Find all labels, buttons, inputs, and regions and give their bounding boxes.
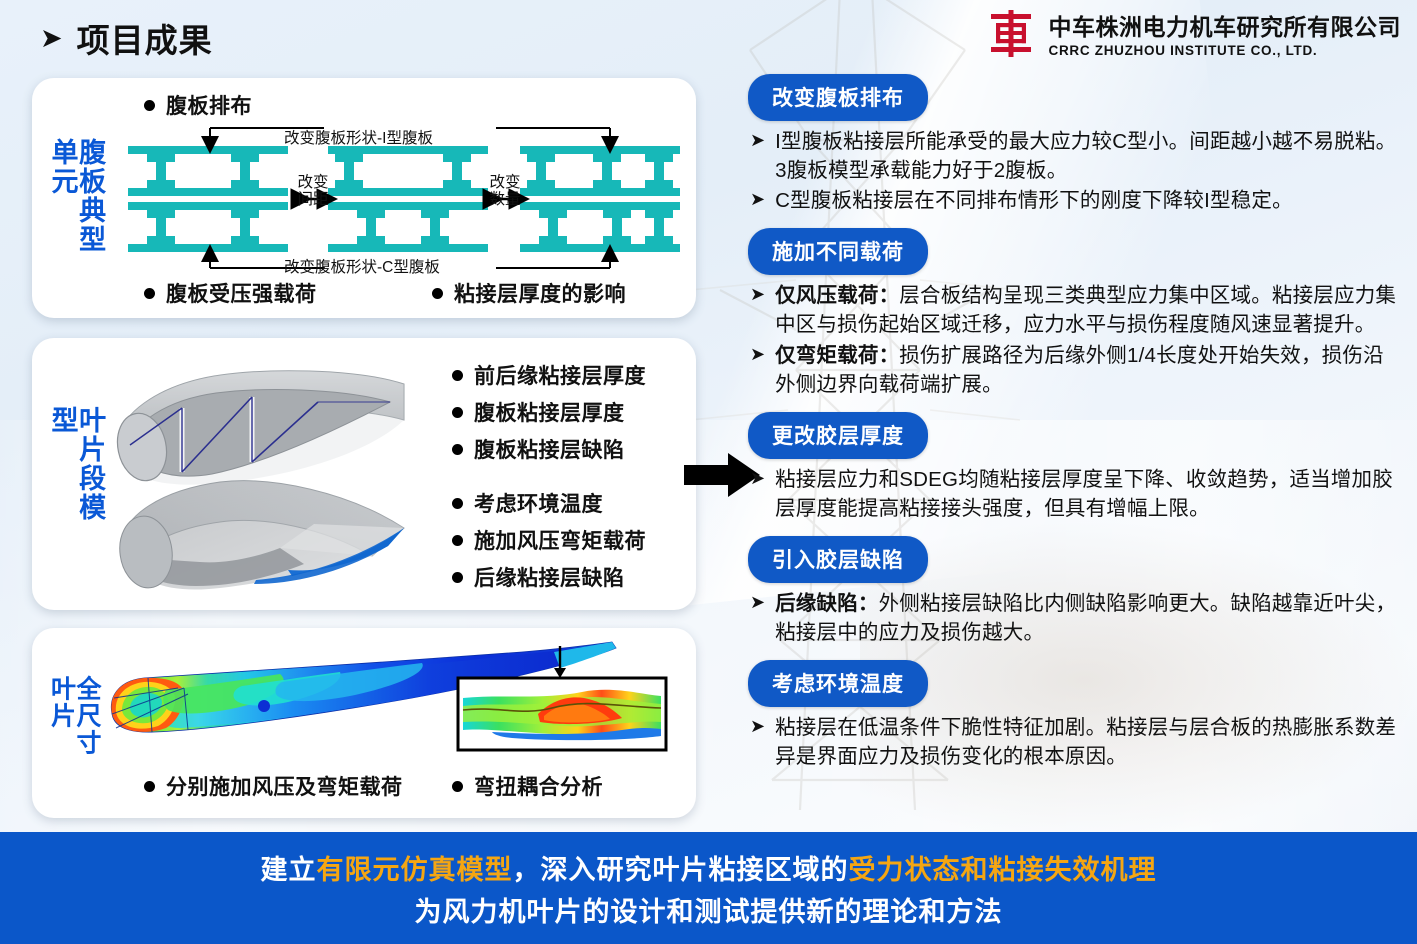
list-item: 施加风压弯矩载荷 [452,525,646,555]
card-blade-foot-text-1: 分别施加风压及弯矩载荷 [166,771,403,801]
brand-names: 中车株洲电力机车研究所有限公司 CRRC ZHUZHOU INSTITUTE C… [1049,8,1402,58]
card-blade-foot-bullet-1: 分别施加风压及弯矩载荷 [144,771,403,801]
webs-top-arrow-label: 改变腹板形状-I型腹板 [284,126,433,148]
section-body: ➤粘接层在低温条件下脆性特征加剧。粘接层与层合板的热膨胀系数差异是界面应力及损伤… [748,707,1398,779]
section-chip-3[interactable]: 引入胶层缺陷 [748,536,928,583]
webs-mid-label-spacing: 改变 间距 [284,174,342,209]
finding-body-text: 粘接层在低温条件下脆性特征加剧。粘接层与层合板的热膨胀系数差异是界面应力及损伤变… [775,716,1396,768]
section-chip-0[interactable]: 改变腹板排布 [748,74,928,121]
list-item: 腹板粘接层厚度 [452,397,646,427]
bullet-dot-icon [452,781,463,792]
finding-section: 引入胶层缺陷➤后缘缺陷：外侧粘接层缺陷比内侧缺陷影响更大。缺陷越靠近叶尖，粘接层… [748,536,1398,655]
card-section-list1-text-1: 前后缘粘接层厚度 [474,360,646,390]
card-webs-foot-bullet-1: 腹板受压强载荷 [144,278,317,308]
arrow-bullet-icon: ➤ [750,589,765,616]
finding-section: 考虑环境温度➤粘接层在低温条件下脆性特征加剧。粘接层与层合板的热膨胀系数差异是界… [748,660,1398,779]
webs-bottom-arrow-label: 改变腹板形状-C型腹板 [284,255,440,277]
finding-item: ➤仅风压载荷：层合板结构呈现三类典型应力集中区域。粘接层应力集中区与损伤起始区域… [750,281,1398,339]
findings-column: 改变腹板排布➤I型腹板粘接层所能承受的最大应力较C型小。间距越小越不易脱粘。3腹… [748,74,1398,784]
webs-mid-label-count-l1: 改变 [476,174,534,191]
webs-mid-label-spacing-l1: 改变 [284,174,342,191]
list-item: 前后缘粘接层厚度 [452,360,646,390]
card-webs-foot-text-2: 粘接层厚度的影响 [454,278,626,308]
finding-text: I型腹板粘接层所能承受的最大应力较C型小。间距越小越不易脱粘。3腹板模型承载能力… [775,127,1398,185]
bullet-dot-icon [452,572,463,583]
card-section-side-label: 叶片段模型 [48,406,103,542]
card-section-list1-text-2: 腹板粘接层厚度 [474,397,625,427]
brand-name-en: CRRC ZHUZHOU INSTITUTE CO., LTD. [1049,43,1402,58]
arrow-bullet-icon: ➤ [750,127,765,154]
page-title: ➤ 项目成果 [40,14,213,62]
banner-segment: 为风力机叶片的设计和测试提供新的理论和方法 [415,897,1003,927]
bullet-dot-icon [432,288,443,299]
brand-logo: 中车株洲电力机车研究所有限公司 CRRC ZHUZHOU INSTITUTE C… [986,8,1402,58]
card-section-bullet-list-1: 前后缘粘接层厚度 腹板粘接层厚度 腹板粘接层缺陷 [452,360,646,464]
card-webs-side-label: 腹板典型单元 [48,138,103,258]
bullet-dot-icon [144,100,155,111]
section-body: ➤I型腹板粘接层所能承受的最大应力较C型小。间距越小越不易脱粘。3腹板模型承载能… [748,121,1398,223]
finding-item: ➤后缘缺陷：外侧粘接层缺陷比内侧缺陷影响更大。缺陷越靠近叶尖，粘接层中的应力及损… [750,589,1398,647]
section-chip-4[interactable]: 考虑环境温度 [748,660,928,707]
conclusion-banner: 建立有限元仿真模型，深入研究叶片粘接区域的受力状态和粘接失效机理 为风力机叶片的… [0,832,1417,944]
card-webs-head-bullet: 腹板排布 [144,90,252,120]
list-item: 后缘粘接层缺陷 [452,562,646,592]
bullet-dot-icon [452,535,463,546]
bullet-dot-icon [144,288,155,299]
section-body: ➤后缘缺陷：外侧粘接层缺陷比内侧缺陷影响更大。缺陷越靠近叶尖，粘接层中的应力及损… [748,583,1398,655]
card-section-list1-text-3: 腹板粘接层缺陷 [474,434,625,464]
page-title-text: 项目成果 [77,14,213,62]
card-blade-foot-text-2: 弯扭耦合分析 [474,771,603,801]
bullet-dot-icon [452,444,463,455]
banner-segment: 受力状态和粘接失效机理 [849,855,1157,885]
finding-lead: 仅弯矩载荷： [775,344,899,367]
banner-segment: 有限元仿真模型 [317,855,513,885]
arrow-bullet-icon: ➤ [750,281,765,308]
finding-lead: 后缘缺陷： [775,592,879,615]
card-section-list2-text-3: 后缘粘接层缺陷 [474,562,625,592]
finding-section: 施加不同载荷➤仅风压载荷：层合板结构呈现三类典型应力集中区域。粘接层应力集中区与… [748,228,1398,406]
card-section-list2-text-1: 考虑环境温度 [474,488,603,518]
finding-text: 粘接层应力和SDEG均随粘接层厚度呈下降、收敛趋势，适当增加胶层厚度能提高粘接接… [775,465,1398,523]
arrow-bullet-icon: ➤ [750,186,765,213]
finding-item: ➤C型腹板粘接层在不同排布情形下的刚度下降较I型稳定。 [750,186,1398,215]
finding-text: C型腹板粘接层在不同排布情形下的刚度下降较I型稳定。 [775,186,1293,215]
finding-section: 改变腹板排布➤I型腹板粘接层所能承受的最大应力较C型小。间距越小越不易脱粘。3腹… [748,74,1398,223]
bullet-dot-icon [452,370,463,381]
finding-text: 粘接层在低温条件下脆性特征加剧。粘接层与层合板的热膨胀系数差异是界面应力及损伤变… [775,713,1398,771]
card-web-typical-unit: 腹板典型单元 腹板排布 [32,78,696,318]
card-webs-foot-text-1: 腹板受压强载荷 [166,278,317,308]
webs-mid-label-count: 改变 数量 [476,174,534,209]
card-blade-foot-bullet-2: 弯扭耦合分析 [452,771,603,801]
chevron-bullet-icon: ➤ [40,25,63,52]
webs-mid-label-count-l2: 数量 [476,191,534,208]
finding-body-text: 粘接层应力和SDEG均随粘接层厚度呈下降、收敛趋势，适当增加胶层厚度能提高粘接接… [775,468,1393,520]
list-item: 考虑环境温度 [452,488,646,518]
blade-section-3d-illustration [104,350,424,600]
card-section-list2-text-2: 施加风压弯矩载荷 [474,525,646,555]
finding-item: ➤I型腹板粘接层所能承受的最大应力较C型小。间距越小越不易脱粘。3腹板模型承载能… [750,127,1398,185]
section-chip-2[interactable]: 更改胶层厚度 [748,412,928,459]
card-section-bullet-list-2: 考虑环境温度 施加风压弯矩载荷 后缘粘接层缺陷 [452,488,646,592]
finding-item: ➤粘接层应力和SDEG均随粘接层厚度呈下降、收敛趋势，适当增加胶层厚度能提高粘接… [750,465,1398,523]
finding-text: 后缘缺陷：外侧粘接层缺陷比内侧缺陷影响更大。缺陷越靠近叶尖，粘接层中的应力及损伤… [775,589,1398,647]
card-full-scale-blade: 全尺寸叶片 [32,628,696,818]
webs-mid-label-spacing-l2: 间距 [284,191,342,208]
crrc-emblem-icon [986,10,1036,57]
banner-segment: ，深入研究叶片粘接区域的 [513,855,849,885]
section-chip-1[interactable]: 施加不同载荷 [748,228,928,275]
finding-lead: 仅风压载荷： [775,284,899,307]
finding-body-text: C型腹板粘接层在不同排布情形下的刚度下降较I型稳定。 [775,189,1293,212]
arrow-bullet-icon: ➤ [750,465,765,492]
arrow-bullet-icon: ➤ [750,341,765,368]
conclusion-line-1: 建立有限元仿真模型，深入研究叶片粘接区域的受力状态和粘接失效机理 [261,848,1157,887]
banner-segment: 建立 [261,855,317,885]
brand-name-cn: 中车株洲电力机车研究所有限公司 [1049,8,1402,42]
finding-item: ➤仅弯矩载荷：损伤扩展路径为后缘外侧1/4长度处开始失效，损伤沿外侧边界向载荷端… [750,341,1398,399]
finding-text: 仅弯矩载荷：损伤扩展路径为后缘外侧1/4长度处开始失效，损伤沿外侧边界向载荷端扩… [775,341,1398,399]
arrow-bullet-icon: ➤ [750,713,765,740]
section-body: ➤粘接层应力和SDEG均随粘接层厚度呈下降、收敛趋势，适当增加胶层厚度能提高粘接… [748,459,1398,531]
bullet-dot-icon [144,781,155,792]
card-blade-section-model: 叶片段模型 [32,338,696,610]
bullet-dot-icon [452,407,463,418]
conclusion-line-2: 为风力机叶片的设计和测试提供新的理论和方法 [415,890,1003,929]
finding-text: 仅风压载荷：层合板结构呈现三类典型应力集中区域。粘接层应力集中区与损伤起始区域迁… [775,281,1398,339]
finding-item: ➤粘接层在低温条件下脆性特征加剧。粘接层与层合板的热膨胀系数差异是界面应力及损伤… [750,713,1398,771]
card-webs-foot-bullet-2: 粘接层厚度的影响 [432,278,626,308]
list-item: 腹板粘接层缺陷 [452,434,646,464]
blade-fea-contour-illustration [92,636,672,766]
section-body: ➤仅风压载荷：层合板结构呈现三类典型应力集中区域。粘接层应力集中区与损伤起始区域… [748,275,1398,406]
bullet-dot-icon [452,498,463,509]
finding-body-text: I型腹板粘接层所能承受的最大应力较C型小。间距越小越不易脱粘。3腹板模型承载能力… [775,130,1396,182]
card-webs-head-text: 腹板排布 [166,90,252,120]
finding-section: 更改胶层厚度➤粘接层应力和SDEG均随粘接层厚度呈下降、收敛趋势，适当增加胶层厚… [748,412,1398,531]
